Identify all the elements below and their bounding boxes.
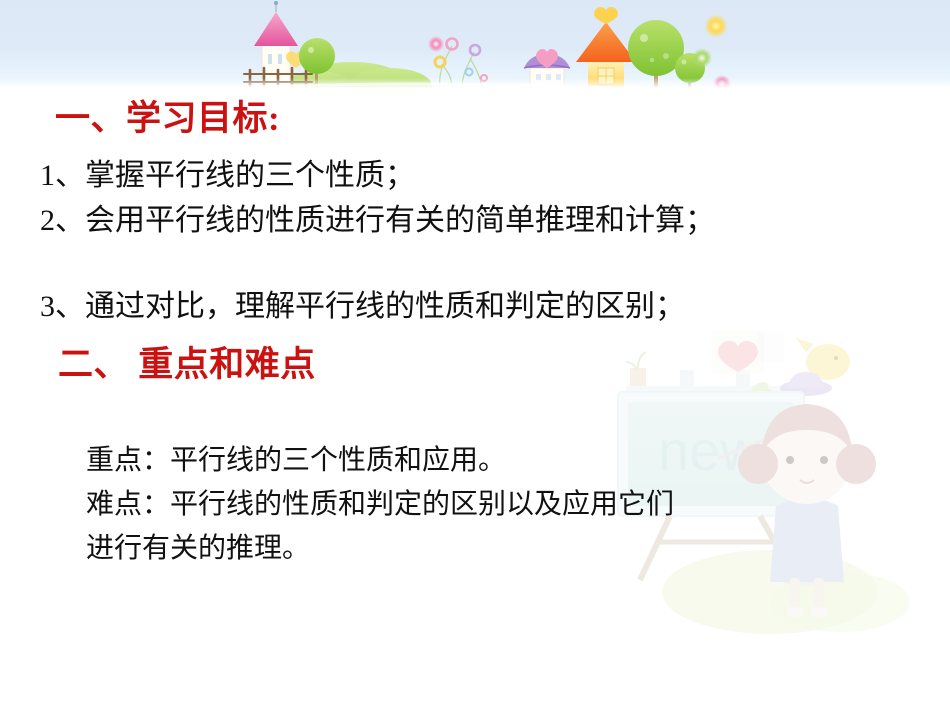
key-point-line-1: 重点：平行线的三个性质和应用。 [86, 443, 506, 479]
slide-canvas: new 一、学习目标: 1、掌握平行线的三个性质； 2、会用平行线的性质进行有关… [0, 0, 950, 713]
key-point-line-3: 进行有关的推理。 [86, 531, 310, 567]
shelf-with-potted-plant-icon [626, 352, 814, 392]
right-pigtail [836, 444, 876, 484]
yellow-glow-dot-icon [704, 14, 728, 38]
pointer-stick-icon [718, 430, 788, 458]
heart-picture-frame-icon [712, 330, 784, 374]
objective-item-2: 2、会用平行线的性质进行有关的简单推理和计算； [40, 202, 715, 240]
header-decoration-band [0, 0, 950, 88]
pink-glow-dot-small-icon [428, 36, 444, 52]
orange-roof-house-icon [576, 7, 636, 88]
girl-with-pigtails-icon [738, 404, 876, 617]
section-heading-key-points: 二、 重点和难点 [58, 344, 316, 386]
section-heading-objectives: 一、学习目标: [55, 98, 280, 140]
blackboard-easel-icon: new [618, 392, 804, 580]
objective-item-3: 3、通过对比，理解平行线的性质和判定的区别； [40, 288, 685, 326]
small-plant-icon [750, 380, 782, 404]
objective-item-1: 1、掌握平行线的三个性质； [40, 157, 415, 195]
blackboard-text: new [658, 419, 761, 482]
purple-hat-icon [780, 372, 832, 396]
cartoon-village-border-icon [0, 0, 950, 88]
green-grass-patch-icon [662, 550, 910, 634]
band-fade [0, 78, 950, 88]
left-pigtail [738, 444, 778, 484]
key-point-line-2: 难点：平行线的性质和判定的区别以及应用它们 [86, 487, 674, 523]
green-glow-dot-icon [692, 48, 712, 68]
yellow-bird-icon [796, 338, 850, 380]
